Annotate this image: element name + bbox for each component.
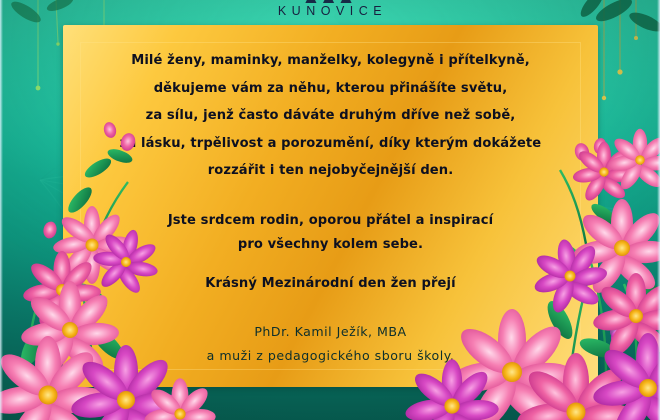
school-logo-icon: ▲▲▲ <box>0 0 660 3</box>
page-edge-left <box>0 0 3 420</box>
school-name: KUNOVICE <box>0 4 660 18</box>
school-header: ▲▲▲ KUNOVICE <box>0 0 660 18</box>
greeting-poster: ▲▲▲ KUNOVICE Milé ženy, maminky, manželk… <box>0 0 660 420</box>
frame-hairline <box>80 42 581 370</box>
gold-frame <box>63 25 598 387</box>
frame-inner-panel <box>70 32 591 380</box>
